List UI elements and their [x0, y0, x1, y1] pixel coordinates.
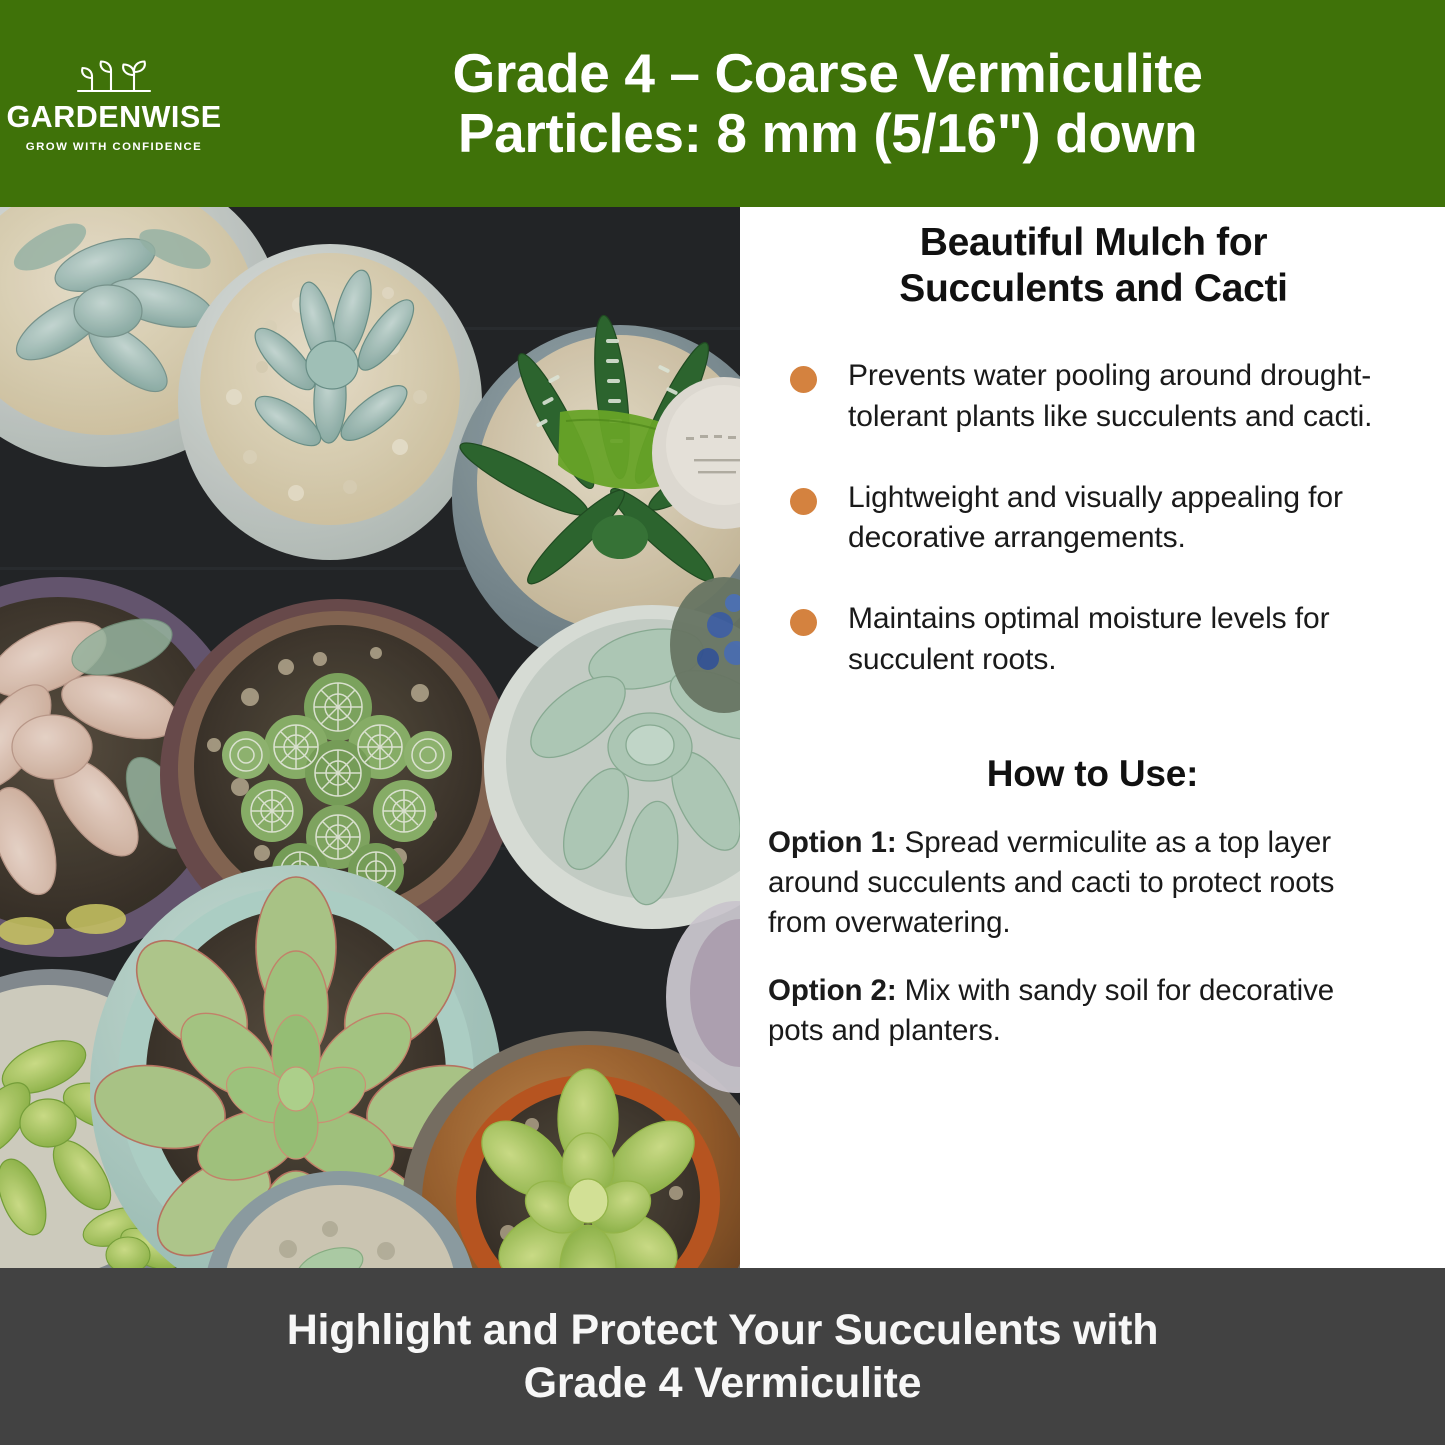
benefits-list: Prevents water pooling around drought-to… — [740, 312, 1445, 681]
bullet-dot-icon — [790, 366, 817, 393]
option-1-paragraph: Option 1: Spread vermiculite as a top la… — [740, 795, 1445, 943]
infographic-page: GARDENWISE GROW WITH CONFIDENCE Grade 4 … — [0, 0, 1445, 1445]
header-banner: GARDENWISE GROW WITH CONFIDENCE Grade 4 … — [0, 0, 1445, 207]
header-title-line-2: Particles: 8 mm (5/16") down — [458, 104, 1197, 163]
content-panel: Beautiful Mulch for Succulents and Cacti… — [740, 207, 1445, 1268]
option-2-label: Option 2: — [768, 974, 897, 1007]
brand-name: GARDENWISE — [6, 102, 221, 133]
footer-line-1: Highlight and Protect Your Succulents wi… — [287, 1304, 1159, 1356]
succulent-photo-illustration — [0, 207, 740, 1268]
brand-tagline: GROW WITH CONFIDENCE — [26, 142, 202, 153]
bullet-dot-icon — [790, 609, 817, 636]
benefit-text: Prevents water pooling around drought-to… — [848, 356, 1423, 438]
benefit-text: Maintains optimal moisture levels for su… — [848, 599, 1423, 681]
brand-logo: GARDENWISE GROW WITH CONFIDENCE — [0, 54, 228, 153]
footer-banner: Highlight and Protect Your Succulents wi… — [0, 1268, 1445, 1445]
header-title-line-1: Grade 4 – Coarse Vermiculite — [452, 44, 1202, 103]
product-photo — [0, 207, 740, 1268]
header-title-group: Grade 4 – Coarse Vermiculite Particles: … — [228, 44, 1445, 163]
list-item: Prevents water pooling around drought-to… — [790, 356, 1423, 438]
content-headline-line-1: Beautiful Mulch for — [920, 221, 1267, 264]
bullet-dot-icon — [790, 488, 817, 515]
footer-line-2: Grade 4 Vermiculite — [524, 1357, 922, 1409]
seedling-sprouts-icon — [66, 58, 162, 100]
benefit-text: Lightweight and visually appealing for d… — [848, 478, 1423, 560]
option-1-label: Option 1: — [768, 826, 897, 859]
list-item: Maintains optimal moisture levels for su… — [790, 599, 1423, 681]
how-to-use-heading: How to Use: — [740, 681, 1445, 795]
content-headline-line-2: Succulents and Cacti — [899, 267, 1287, 310]
option-2-paragraph: Option 2: Mix with sandy soil for decora… — [740, 943, 1445, 1051]
list-item: Lightweight and visually appealing for d… — [790, 478, 1423, 560]
content-headline: Beautiful Mulch for Succulents and Cacti — [740, 207, 1445, 312]
